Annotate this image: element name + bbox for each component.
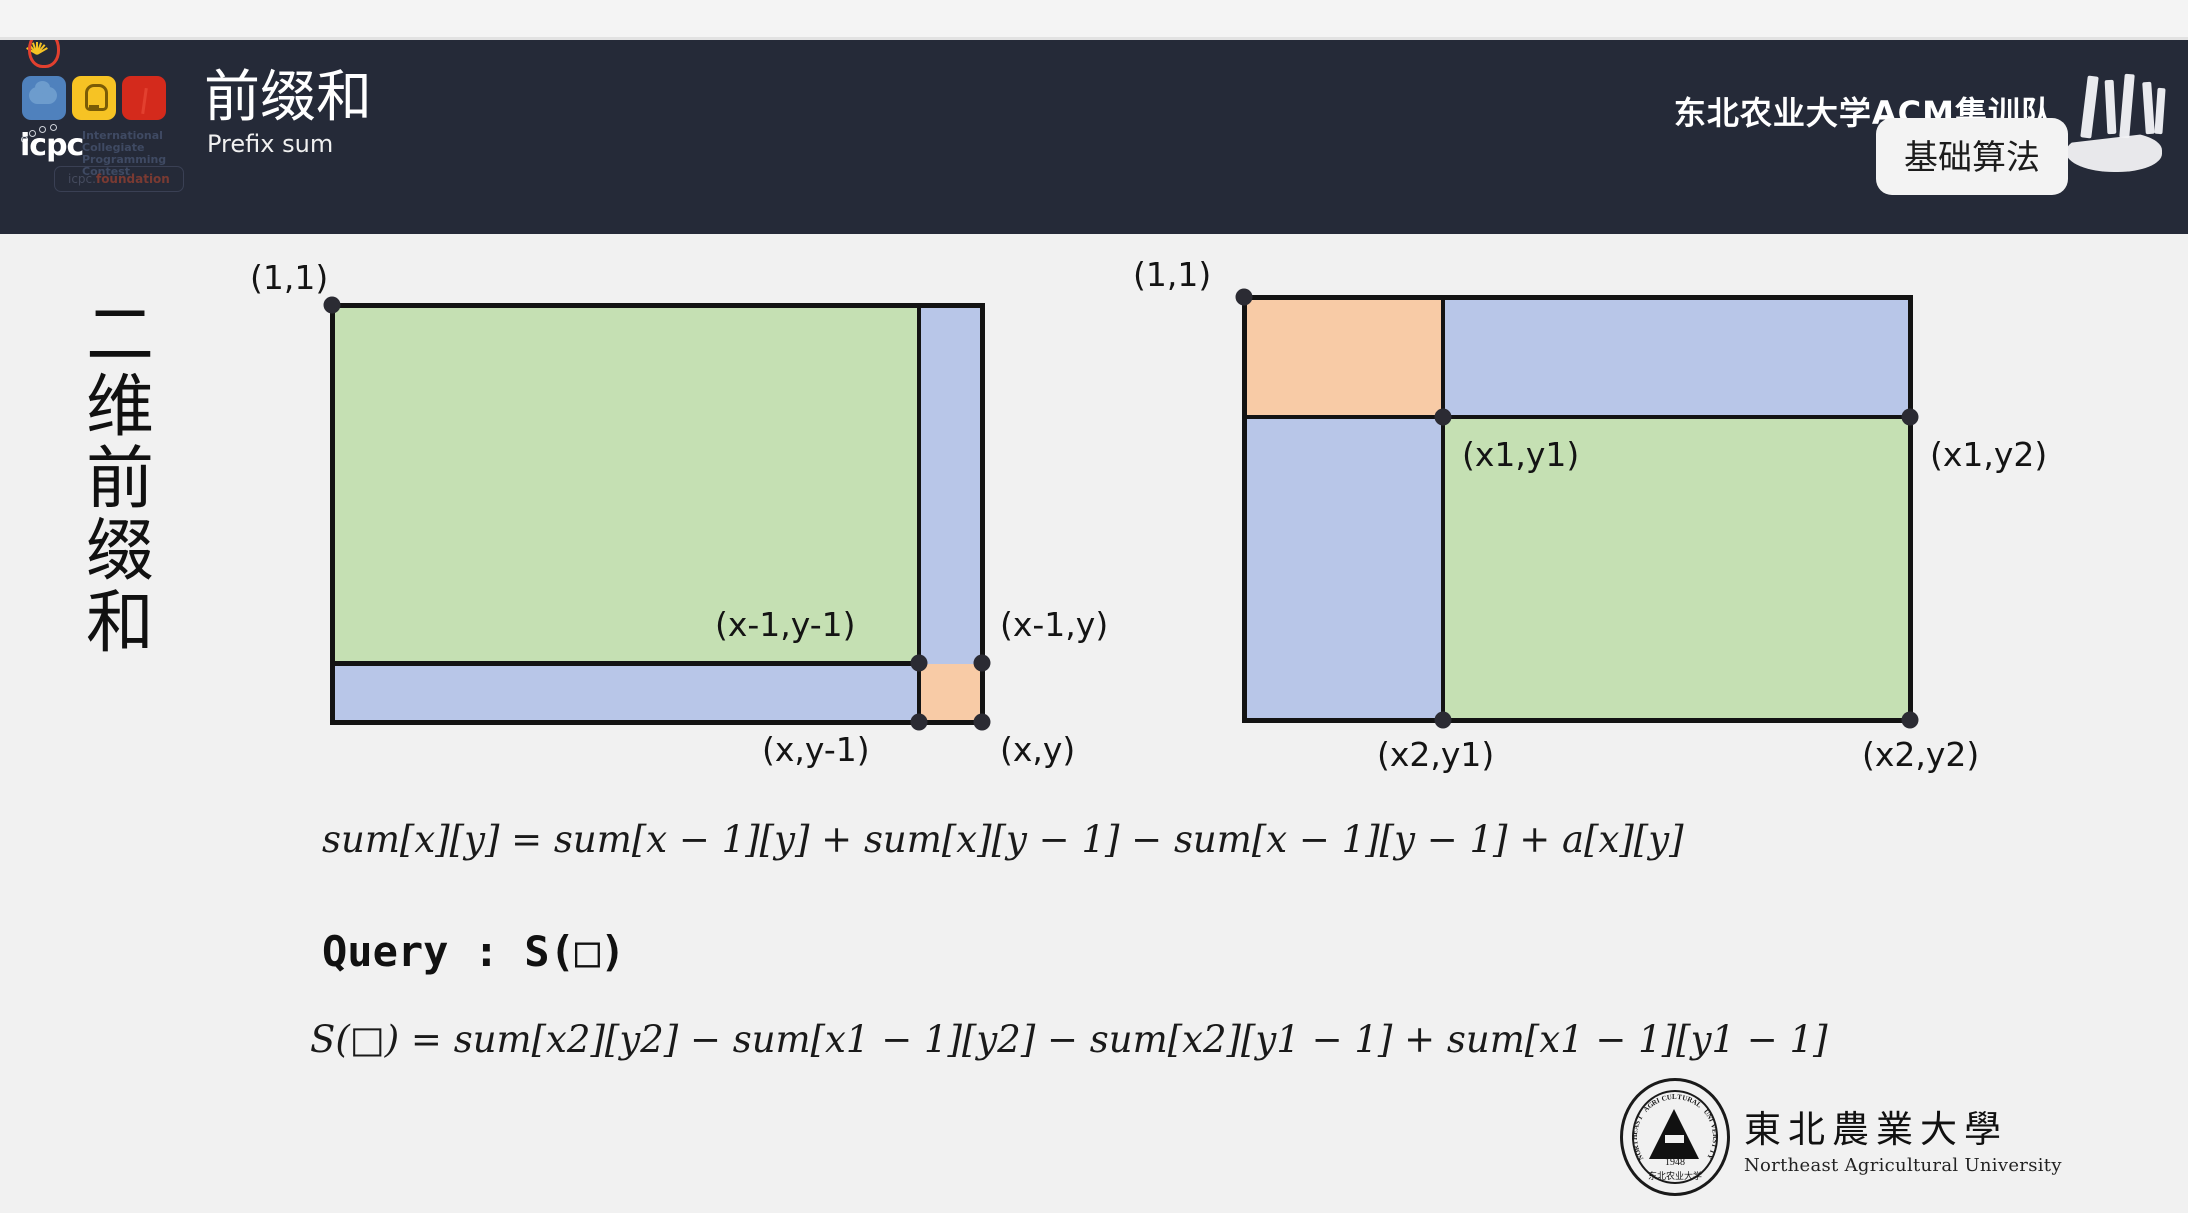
edge-right — [1908, 295, 1913, 723]
region-blue-left-column — [1244, 418, 1443, 721]
label-right-corner: (x-1,y) — [1000, 605, 1108, 644]
team-logo-swoosh — [2066, 132, 2162, 172]
region-orange-cell — [920, 664, 983, 723]
seal-ring-char: H — [1631, 1135, 1639, 1140]
cloud-square-icon — [22, 76, 66, 120]
label-bottom-corner: (x,y-1) — [762, 730, 870, 769]
title-group: 前缀和 Prefix sum — [204, 68, 372, 158]
edge-bottom — [1242, 718, 1913, 723]
seal-mountain-notch — [1665, 1135, 1684, 1143]
chapter-badge: 基础算法 — [1876, 118, 2068, 195]
lightbulb-square-icon — [72, 76, 116, 120]
edge-top — [330, 303, 985, 308]
edge-top — [1242, 295, 1913, 300]
icpc-wordmark: icpc — [20, 128, 83, 163]
edge-inner-horizontal — [330, 661, 920, 666]
slide-header: icpc International Collegiate Programmin… — [0, 40, 2188, 234]
formula-query: S(□) = sum[x2][y2] − sum[x1 − 1][y2] − s… — [310, 1018, 1828, 1061]
corner-dot-x1y1 — [1435, 409, 1452, 426]
cloud-icon — [29, 87, 57, 104]
seal-year: 1948 — [1623, 1157, 1727, 1168]
icpc-logo: icpc International Collegiate Programmin… — [18, 50, 178, 200]
balloon-string-icon — [141, 88, 148, 114]
balloon-square-icon — [122, 76, 166, 120]
icpc-foundation-badge: icpc.foundation — [54, 166, 184, 192]
corner-dot-xy — [974, 714, 991, 731]
slide-title: 前缀和 — [204, 68, 372, 128]
corner-dot-origin — [1236, 289, 1253, 306]
corner-dot-xy1 — [911, 714, 928, 731]
region-blue-right-column — [920, 305, 983, 664]
university-english-name: Northeast Agricultural University — [1744, 1155, 2062, 1176]
slide-subtitle: Prefix sum — [207, 130, 372, 158]
label-x2y1: (x2,y1) — [1377, 735, 1494, 774]
corner-dot-x1y1 — [911, 655, 928, 672]
edge-inner-vertical — [1441, 295, 1445, 723]
seal-ring-char: I — [1710, 1143, 1718, 1148]
icpc-foundation-prefix: icpc. — [68, 172, 96, 186]
corner-dot-x2y2 — [1902, 712, 1919, 729]
label-inner-corner: (x-1,y-1) — [715, 605, 856, 644]
label-origin: (1,1) — [250, 258, 328, 297]
region-blue-bottom-row — [332, 664, 920, 723]
vertical-title-char: 缀 — [60, 516, 180, 588]
seal-mountain-icon — [1649, 1109, 1699, 1159]
vertical-title-char: 维 — [60, 372, 180, 444]
top-strip — [0, 0, 2188, 40]
region-orange-top-left — [1244, 297, 1443, 418]
vertical-title-char: 二 — [60, 300, 180, 372]
lightbulb-base-icon — [89, 105, 99, 111]
icpc-foundation-suffix: foundation — [96, 172, 170, 186]
seal-inner-chinese: 东北农业大学 — [1623, 1169, 1727, 1182]
corner-dot-x1y2 — [1902, 409, 1919, 426]
section-vertical-title: 二 维 前 缀 和 — [60, 300, 180, 660]
label-origin: (1,1) — [1133, 255, 1211, 294]
balloon-icon — [28, 40, 60, 68]
region-blue-top-right — [1443, 297, 1911, 418]
formula-recurrence: sum[x][y] = sum[x − 1][y] + sum[x][y − 1… — [322, 818, 1684, 861]
label-x1y1: (x1,y1) — [1462, 435, 1579, 474]
vertical-title-char: 和 — [60, 588, 180, 660]
corner-dot-x1y — [974, 655, 991, 672]
seal-text-group: 東北農業大學 Northeast Agricultural University — [1744, 1099, 2062, 1176]
vertical-title-char: 前 — [60, 444, 180, 516]
corner-dot-origin — [324, 297, 341, 314]
label-outer-corner: (x,y) — [1000, 730, 1075, 769]
edge-left — [1242, 295, 1247, 723]
corner-dot-x2y1 — [1435, 712, 1452, 729]
header-left-group: icpc International Collegiate Programmin… — [18, 50, 372, 200]
university-seal: NORTHEAST AGRICULTURAL UNIVERSITY 1948 东… — [1620, 1078, 2062, 1196]
query-label: Query : S(□) — [322, 927, 625, 976]
seal-emblem-icon: NORTHEAST AGRICULTURAL UNIVERSITY 1948 东… — [1620, 1078, 1730, 1196]
label-x2y2: (x2,y2) — [1862, 735, 1979, 774]
team-logo-icon — [2052, 74, 2180, 192]
icpc-logo-squares — [22, 76, 166, 120]
university-chinese-name: 東北農業大學 — [1744, 1099, 2062, 1153]
label-x1y2: (x1,y2) — [1930, 435, 2047, 474]
edge-inner-horizontal — [1242, 415, 1913, 419]
edge-bottom — [330, 720, 985, 725]
